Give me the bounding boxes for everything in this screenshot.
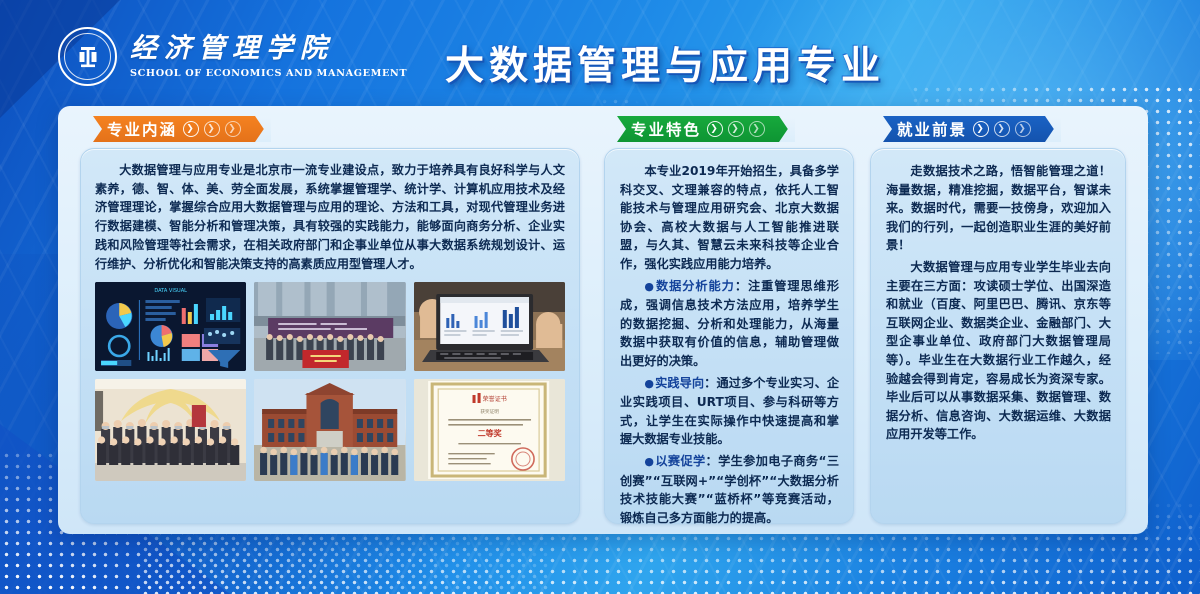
section-banner-prospects: 就业前景 ❯ ❯ ❯: [883, 116, 1061, 142]
chevron-right-icon: ❯: [183, 121, 199, 137]
banner-notch: [1045, 116, 1061, 142]
chevron-right-icon: ❯: [707, 121, 723, 137]
seal-emblem-icon: [77, 45, 99, 69]
chevron-right-icon: ❯: [728, 121, 744, 137]
section-banner-label: 专业内涵: [107, 118, 177, 140]
prospects-paragraph-1: 走数据技术之路，悟智能管理之道！海量数据，精准挖掘，数据平台，智谋未来。数据时代…: [886, 162, 1111, 255]
feature-bullet-3: ●以赛促学：学生参加电子商务“三创赛”“互联网+”“学创杯”“大数据分析技术技能…: [620, 452, 839, 527]
section-connotation: 专业内涵 ❯ ❯ ❯ 大数据管理与应用专业是北京市一流专业建设点，致力于培养具有…: [80, 116, 580, 524]
chevron-right-icon: ❯: [973, 121, 989, 137]
svg-text:DATA VISUAL: DATA VISUAL: [154, 288, 187, 294]
content-card: 专业内涵 ❯ ❯ ❯ 大数据管理与应用专业是北京市一流专业建设点，致力于培养具有…: [58, 106, 1148, 534]
svg-text:二等奖: 二等奖: [477, 428, 502, 438]
feature-bullet-2-sep: ：: [704, 376, 716, 390]
photo-group-outdoor: [254, 282, 405, 371]
svg-text:获奖证明: 获奖证明: [480, 408, 499, 415]
connotation-paragraph: 大数据管理与应用专业是北京市一流专业建设点，致力于培养具有良好科学与人文素养，德…: [95, 161, 565, 273]
features-intro: 本专业2019年开始招生，具备多学科交叉、文理兼容的特点，依托人工智能技术与管理…: [620, 162, 839, 274]
chevron-group: ❯ ❯ ❯: [707, 121, 765, 137]
panel-connotation: 大数据管理与应用专业是北京市一流专业建设点，致力于培养具有良好科学与人文素养，德…: [80, 148, 580, 524]
school-name-en: SCHOOL OF ECONOMICS AND MANAGEMENT: [130, 69, 407, 79]
banner-notch: [255, 116, 271, 142]
school-name-cn: 经济管理学院: [130, 35, 402, 62]
school-brand-text: 经济管理学院 SCHOOL OF ECONOMICS AND MANAGEMEN…: [130, 35, 402, 79]
photo-campus-building: [254, 379, 405, 481]
photo-laptop-analytics: [414, 282, 565, 371]
feature-bullet-2-title: 实践导向: [655, 376, 704, 390]
section-features: 专业特色 ❯ ❯ ❯ 本专业2019年开始招生，具备多学科交叉、文理兼容的特点，…: [604, 116, 854, 524]
banner-notch: [779, 116, 795, 142]
section-banner-label: 专业特色: [631, 118, 701, 140]
bullet-dot-icon: ●: [644, 280, 655, 293]
feature-bullet-1: ●数据分析能力：注重管理思维形成，强调信息技术方法应用，培养学生的数据挖掘、分析…: [620, 277, 839, 371]
chevron-right-icon: ❯: [1015, 121, 1031, 137]
bullet-dot-icon: ●: [644, 455, 654, 468]
poster-canvas: 经济管理学院 SCHOOL OF ECONOMICS AND MANAGEMEN…: [0, 0, 1200, 594]
panel-features: 本专业2019年开始招生，具备多学科交叉、文理兼容的特点，依托人工智能技术与管理…: [604, 148, 854, 524]
feature-bullet-3-title: 以赛促学: [655, 454, 705, 468]
feature-bullet-3-sep: ：: [706, 454, 719, 468]
section-banner-label: 就业前景: [897, 118, 967, 140]
photo-award-certificate: 荣誉证书 获奖证明 二等奖: [414, 379, 565, 481]
content-columns: 专业内涵 ❯ ❯ ❯ 大数据管理与应用专业是北京市一流专业建设点，致力于培养具有…: [58, 106, 1148, 534]
school-brand: 经济管理学院 SCHOOL OF ECONOMICS AND MANAGEMEN…: [58, 27, 402, 86]
section-banner-features: 专业特色 ❯ ❯ ❯: [617, 116, 795, 142]
chevron-right-icon: ❯: [994, 121, 1010, 137]
university-seal-icon: [58, 27, 117, 86]
panel-prospects: 走数据技术之路，悟智能管理之道！海量数据，精准挖掘，数据平台，智谋未来。数据时代…: [870, 148, 1126, 524]
feature-bullet-1-title: 数据分析能力: [656, 279, 735, 293]
photo-grid: DATA VISUAL: [95, 282, 565, 481]
photo-group-indoor: [95, 379, 246, 481]
chevron-group: ❯ ❯ ❯: [973, 121, 1031, 137]
page-title: 大数据管理与应用专业: [430, 35, 900, 91]
photo-data-dashboard: DATA VISUAL: [95, 282, 246, 371]
section-prospects: 就业前景 ❯ ❯ ❯ 走数据技术之路，悟智能管理之道！海量数据，精准挖掘，数据平…: [870, 116, 1126, 524]
chevron-right-icon: ❯: [749, 121, 765, 137]
chevron-right-icon: ❯: [204, 121, 220, 137]
prospects-paragraph-2: 大数据管理与应用专业学生毕业去向主要在三方面：攻读硕士学位、出国深造和就业（百度…: [886, 258, 1111, 444]
chevron-right-icon: ❯: [225, 121, 241, 137]
feature-bullet-1-sep: ：: [735, 279, 748, 293]
svg-text:荣誉证书: 荣誉证书: [482, 395, 506, 403]
feature-bullet-2: ●实践导向：通过多个专业实习、企业实践项目、URT项目、参与科研等方式，让学生在…: [620, 374, 839, 449]
section-banner-connotation: 专业内涵 ❯ ❯ ❯: [93, 116, 271, 142]
poster-header: 经济管理学院 SCHOOL OF ECONOMICS AND MANAGEMEN…: [0, 0, 1200, 104]
bullet-dot-icon: ●: [644, 377, 654, 390]
chevron-group: ❯ ❯ ❯: [183, 121, 241, 137]
